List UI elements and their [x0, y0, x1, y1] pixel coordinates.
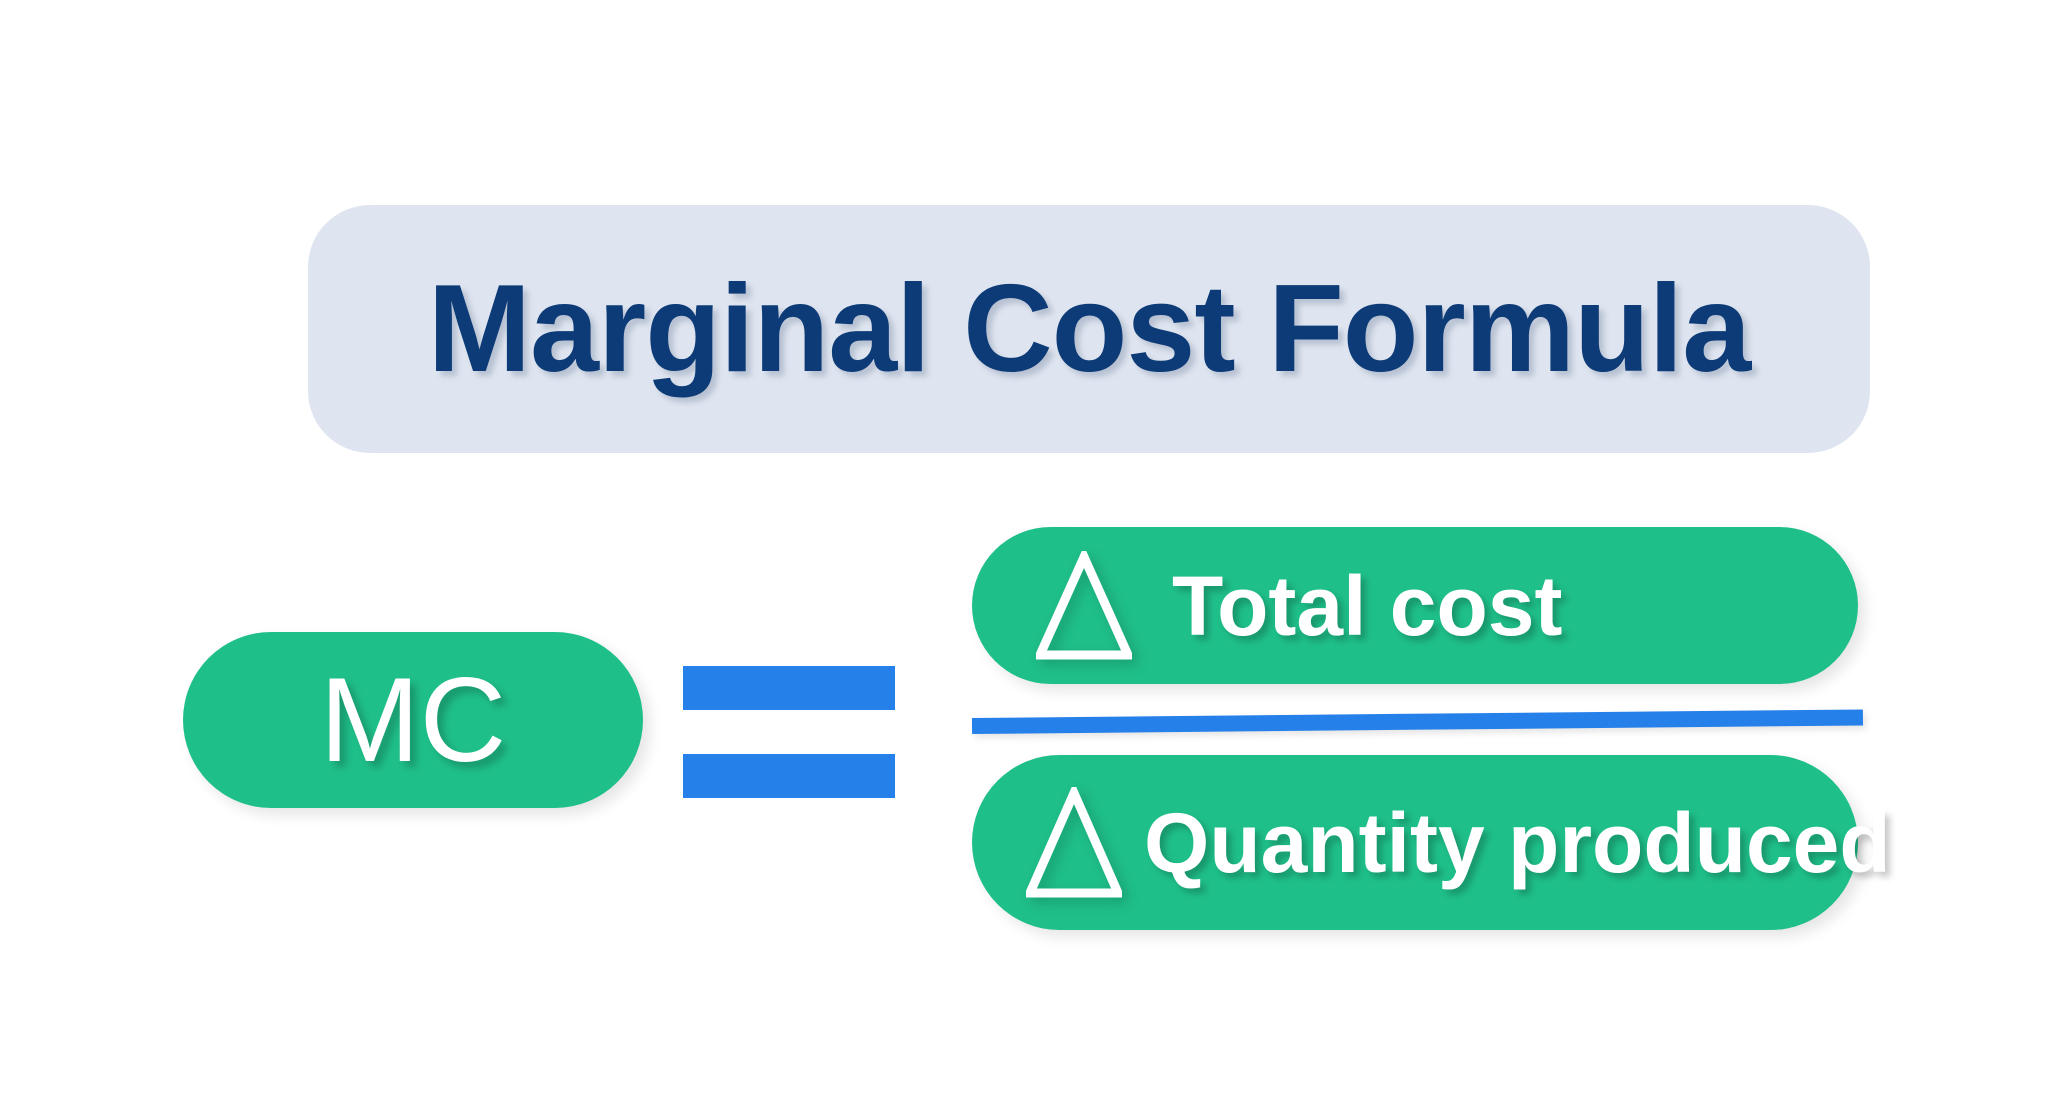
formula-infographic: Marginal Cost Formula MC Total cost Quan… — [0, 0, 2061, 1097]
marginal-cost-label: MC — [320, 660, 507, 780]
denominator-label: Quantity produced — [1144, 801, 1891, 885]
page-title: Marginal Cost Formula — [428, 267, 1750, 391]
fraction-bar — [972, 709, 1863, 734]
numerator-label: Total cost — [1172, 564, 1562, 648]
delta-icon — [1036, 551, 1132, 661]
marginal-cost-pill: MC — [183, 632, 643, 808]
title-banner: Marginal Cost Formula — [308, 205, 1870, 453]
equals-bar-top — [683, 666, 895, 710]
equals-bar-bottom — [683, 754, 895, 798]
denominator-pill: Quantity produced — [972, 755, 1858, 930]
delta-icon — [1026, 787, 1122, 899]
numerator-pill: Total cost — [972, 527, 1858, 684]
equals-sign-icon — [683, 666, 895, 798]
